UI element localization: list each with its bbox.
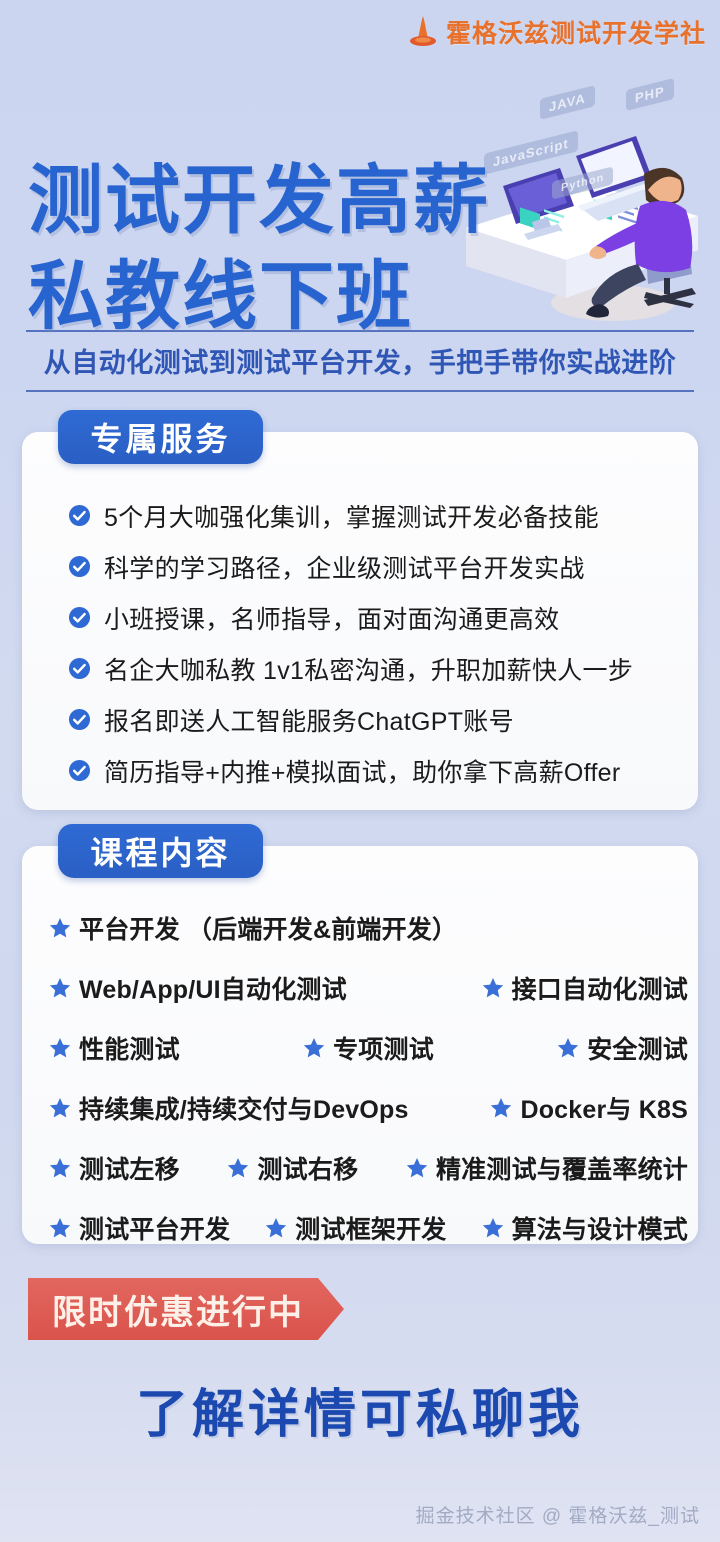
course-card: 平台开发 （后端开发&前端开发） Web/App/UI自动化测试 接口自动化测试: [22, 846, 698, 1244]
promo-label: 限时优惠进行中: [52, 1285, 304, 1334]
course-row: 性能测试 专项测试 安全测试: [48, 1018, 688, 1078]
check-circle-icon: [68, 708, 91, 731]
course-item-label: 性能测试: [79, 1030, 180, 1066]
star-icon: [302, 1036, 326, 1060]
course-item: 精准测试与覆盖率统计: [405, 1150, 688, 1186]
star-icon: [48, 1096, 72, 1120]
course-item: 接口自动化测试: [481, 970, 688, 1006]
list-item-label: 科学的学习路径，企业级测试平台开发实战: [104, 549, 585, 585]
course-row: 平台开发 （后端开发&前端开发）: [48, 898, 688, 958]
list-item: 科学的学习路径，企业级测试平台开发实战: [68, 541, 682, 592]
course-item: 测试右移: [226, 1150, 358, 1186]
star-icon: [48, 976, 72, 1000]
course-item: 测试框架开发: [264, 1210, 446, 1246]
check-circle-icon: [68, 657, 91, 680]
hero-section: JAVA PHP JavaScript Python: [0, 92, 720, 322]
star-icon: [226, 1156, 250, 1180]
services-list: 5个月大咖强化集训，掌握测试开发必备技能 科学的学习路径，企业级测试平台开发实战…: [68, 490, 682, 796]
check-circle-icon: [68, 555, 91, 578]
star-icon: [48, 1216, 72, 1240]
brand-name: 霍格沃兹测试开发学社: [446, 14, 706, 50]
check-circle-icon: [68, 504, 91, 527]
star-icon: [489, 1096, 513, 1120]
course-item: 平台开发 （后端开发&前端开发）: [48, 910, 457, 946]
page-title: 测试开发高薪 私教线下班: [28, 152, 490, 344]
star-icon: [481, 1216, 505, 1240]
course-item: Docker与 K8S: [489, 1090, 688, 1126]
list-item-label: 名企大咖私教 1v1私密沟通，升职加薪快人一步: [104, 651, 633, 687]
course-item-label: 精准测试与覆盖率统计: [436, 1150, 688, 1186]
course-item-label: 安全测试: [587, 1030, 688, 1066]
course-item: Web/App/UI自动化测试: [48, 970, 347, 1006]
course-item-label: 测试平台开发: [79, 1210, 230, 1246]
course-badge: 课程内容: [58, 824, 263, 878]
hero-title-line2: 私教线下班: [28, 248, 490, 344]
course-item: 测试平台开发: [48, 1210, 230, 1246]
course-item-label: 接口自动化测试: [512, 970, 688, 1006]
poster-root: 霍格沃兹测试开发学社 JAVA PHP JavaScript Python: [0, 0, 720, 1542]
course-item: 测试左移: [48, 1150, 180, 1186]
star-icon: [48, 1156, 72, 1180]
list-item-label: 简历指导+内推+模拟面试，助你拿下高薪Offer: [104, 753, 621, 789]
star-icon: [48, 916, 72, 940]
check-circle-icon: [68, 606, 91, 629]
course-item-label: 测试框架开发: [295, 1210, 446, 1246]
cta-text: 了解详情可私聊我: [0, 1372, 720, 1447]
list-item: 5个月大咖强化集训，掌握测试开发必备技能: [68, 490, 682, 541]
course-item: 算法与设计模式: [481, 1210, 688, 1246]
course-item-label: 平台开发 （后端开发&前端开发）: [79, 910, 457, 946]
wizard-hat-icon: [408, 15, 438, 49]
course-item-label: 测试右移: [257, 1150, 358, 1186]
list-item-label: 5个月大咖强化集训，掌握测试开发必备技能: [104, 498, 599, 534]
course-item: 安全测试: [556, 1030, 688, 1066]
services-badge: 专属服务: [58, 410, 263, 464]
hero-title-line1: 测试开发高薪: [28, 158, 490, 242]
course-row: 测试左移 测试右移 精准测试与覆盖率统计: [48, 1138, 688, 1198]
course-item-label: Docker与 K8S: [520, 1090, 688, 1126]
course-item: 性能测试: [48, 1030, 180, 1066]
list-item: 报名即送人工智能服务ChatGPT账号: [68, 694, 682, 745]
star-icon: [405, 1156, 429, 1180]
course-item: 持续集成/持续交付与DevOps: [48, 1090, 409, 1126]
course-row: Web/App/UI自动化测试 接口自动化测试: [48, 958, 688, 1018]
list-item: 小班授课，名师指导，面对面沟通更高效: [68, 592, 682, 643]
list-item-label: 报名即送人工智能服务ChatGPT账号: [104, 702, 514, 738]
check-circle-icon: [68, 759, 91, 782]
brand-header: 霍格沃兹测试开发学社: [408, 14, 706, 50]
divider-bottom: [26, 390, 694, 392]
star-icon: [264, 1216, 288, 1240]
course-item: 专项测试: [302, 1030, 434, 1066]
list-item: 简历指导+内推+模拟面试，助你拿下高薪Offer: [68, 745, 682, 796]
course-row: 持续集成/持续交付与DevOps Docker与 K8S: [48, 1078, 688, 1138]
course-item-label: 测试左移: [79, 1150, 180, 1186]
footer-watermark: 掘金技术社区 @ 霍格沃兹_测试: [416, 1501, 700, 1528]
services-card: 5个月大咖强化集训，掌握测试开发必备技能 科学的学习路径，企业级测试平台开发实战…: [22, 432, 698, 810]
course-item-label: Web/App/UI自动化测试: [79, 970, 347, 1006]
star-icon: [48, 1036, 72, 1060]
promo-banner: 限时优惠进行中: [28, 1278, 344, 1340]
course-item-label: 算法与设计模式: [512, 1210, 688, 1246]
star-icon: [556, 1036, 580, 1060]
star-icon: [481, 976, 505, 1000]
course-item-label: 专项测试: [333, 1030, 434, 1066]
list-item-label: 小班授课，名师指导，面对面沟通更高效: [104, 600, 559, 636]
list-item: 名企大咖私教 1v1私密沟通，升职加薪快人一步: [68, 643, 682, 694]
course-row: 测试平台开发 测试框架开发 算法与设计模式: [48, 1198, 688, 1258]
course-rows: 平台开发 （后端开发&前端开发） Web/App/UI自动化测试 接口自动化测试: [48, 898, 688, 1258]
course-item-label: 持续集成/持续交付与DevOps: [79, 1090, 409, 1126]
